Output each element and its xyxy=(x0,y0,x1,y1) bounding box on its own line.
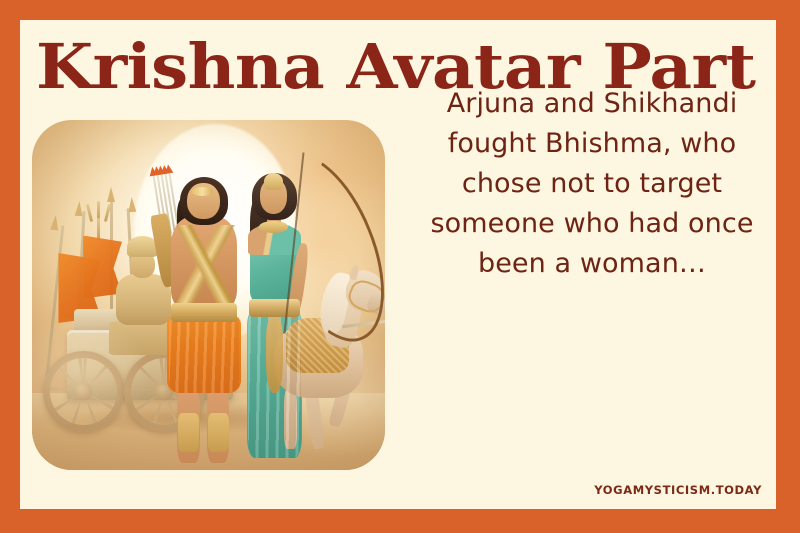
shikhandi-waist-tassel xyxy=(266,317,284,393)
spear-tip-icon xyxy=(75,200,84,215)
shikhandi-waistband xyxy=(249,299,300,317)
arjuna-sash-cross xyxy=(173,225,237,309)
spear-tip-icon xyxy=(50,214,60,230)
trident-standard-icon xyxy=(88,204,110,238)
site-watermark: YOGAMYSTICISM.TODAY xyxy=(594,483,762,497)
arjuna-dhoti-folds xyxy=(169,315,239,393)
arjuna-belt xyxy=(171,303,237,321)
poster-inner-panel: Krishna Avatar Part 68 xyxy=(20,20,776,509)
arjuna-greave-right xyxy=(208,413,229,452)
body-text: Arjuna and Shikhandi fought Bhishma, who… xyxy=(408,84,776,284)
arjuna-crown xyxy=(192,187,213,195)
spear-tip-icon xyxy=(128,197,137,212)
arjuna-greave-left xyxy=(178,413,199,452)
illustration-background xyxy=(32,120,385,470)
poster: Krishna Avatar Part 68 xyxy=(0,0,800,533)
chariot-wheel xyxy=(43,351,124,432)
spear-tip-icon xyxy=(107,187,115,202)
illustration-card xyxy=(32,120,385,470)
